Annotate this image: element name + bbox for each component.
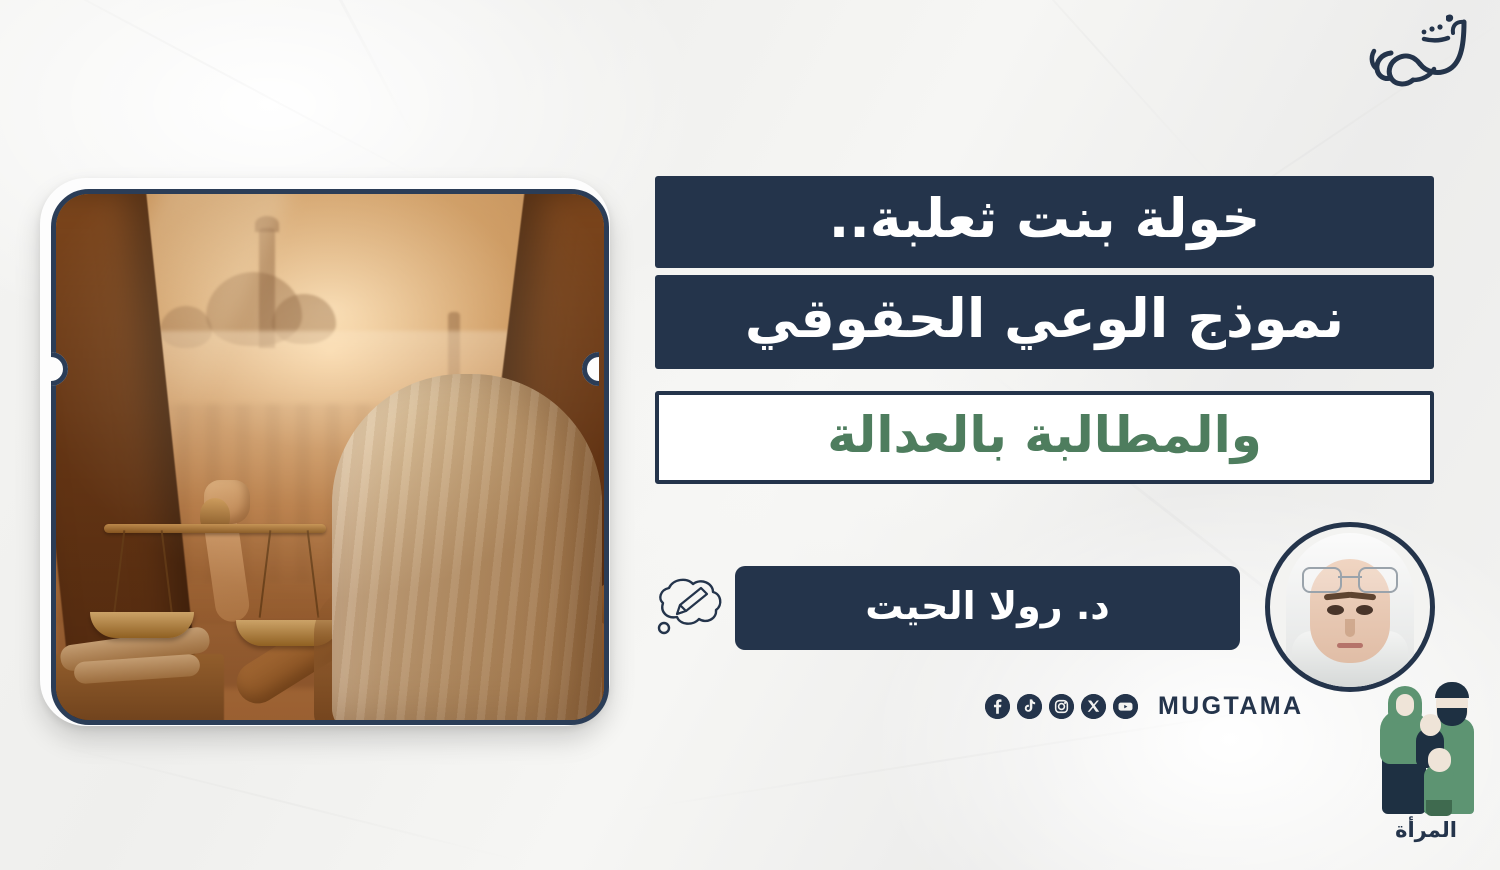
- glasses-icon: [1302, 567, 1398, 589]
- child-head: [1428, 748, 1451, 772]
- glasses-bridge: [1338, 576, 1362, 578]
- x-twitter-icon[interactable]: [1081, 694, 1106, 719]
- paper-crease: [37, 740, 523, 863]
- hero-image-card: [40, 178, 610, 726]
- thought-bubble-pencil-icon: [647, 572, 725, 642]
- hero-image-frame: [51, 189, 609, 725]
- headline-bar-3: والمطالبة بالعدالة: [655, 391, 1434, 484]
- child-legs: [1426, 800, 1452, 816]
- warm-glow-overlay: [56, 194, 604, 720]
- headline-bar-1: خولة بنت ثعلبة..: [655, 176, 1434, 268]
- headline-line-1: خولة بنت ثعلبة..: [829, 192, 1261, 252]
- nose: [1345, 619, 1355, 637]
- social-row: MUGTAMA: [985, 692, 1303, 721]
- headline-line-2: نموذج الوعي الحقوقي: [745, 292, 1344, 352]
- author-name-plate: د. رولا الحيت: [735, 566, 1240, 650]
- mouth: [1337, 643, 1363, 648]
- headline-line-3: والمطالبة بالعدالة: [827, 410, 1262, 466]
- paper-crease: [0, 0, 430, 184]
- paper-crease: [962, 0, 1218, 183]
- author-block: د. رولا الحيت: [735, 520, 1435, 695]
- youtube-icon[interactable]: [1113, 694, 1138, 719]
- avatar-portrait: [1270, 527, 1430, 687]
- mugtama-logo[interactable]: [1360, 8, 1478, 94]
- poster-canvas: خولة بنت ثعلبة.. نموذج الوعي الحقوقي وال…: [0, 0, 1500, 870]
- father-cap: [1435, 682, 1469, 698]
- lens-left: [1302, 567, 1342, 593]
- avatar: [1265, 522, 1435, 692]
- section-badge-label: المرأة: [1370, 818, 1482, 842]
- baby-head: [1420, 714, 1441, 736]
- section-badge-women[interactable]: المرأة: [1370, 688, 1482, 856]
- mother-face: [1396, 694, 1414, 716]
- tiktok-icon[interactable]: [1017, 694, 1042, 719]
- mugtama-calligraphy-icon: [1360, 8, 1478, 94]
- paper-crease: [624, 710, 1256, 812]
- hero-image: [56, 194, 604, 720]
- eye-left: [1327, 605, 1344, 615]
- author-name: د. رولا الحيت: [865, 587, 1110, 629]
- brand-handle: MUGTAMA: [1158, 692, 1303, 721]
- instagram-icon[interactable]: [1049, 694, 1074, 719]
- facebook-icon[interactable]: [985, 694, 1010, 719]
- lens-right: [1358, 567, 1398, 593]
- eye-right: [1356, 605, 1373, 615]
- paper-crease: [225, 0, 415, 139]
- headline-bar-2: نموذج الوعي الحقوقي: [655, 275, 1434, 369]
- muslim-family-illustration: [1370, 688, 1482, 816]
